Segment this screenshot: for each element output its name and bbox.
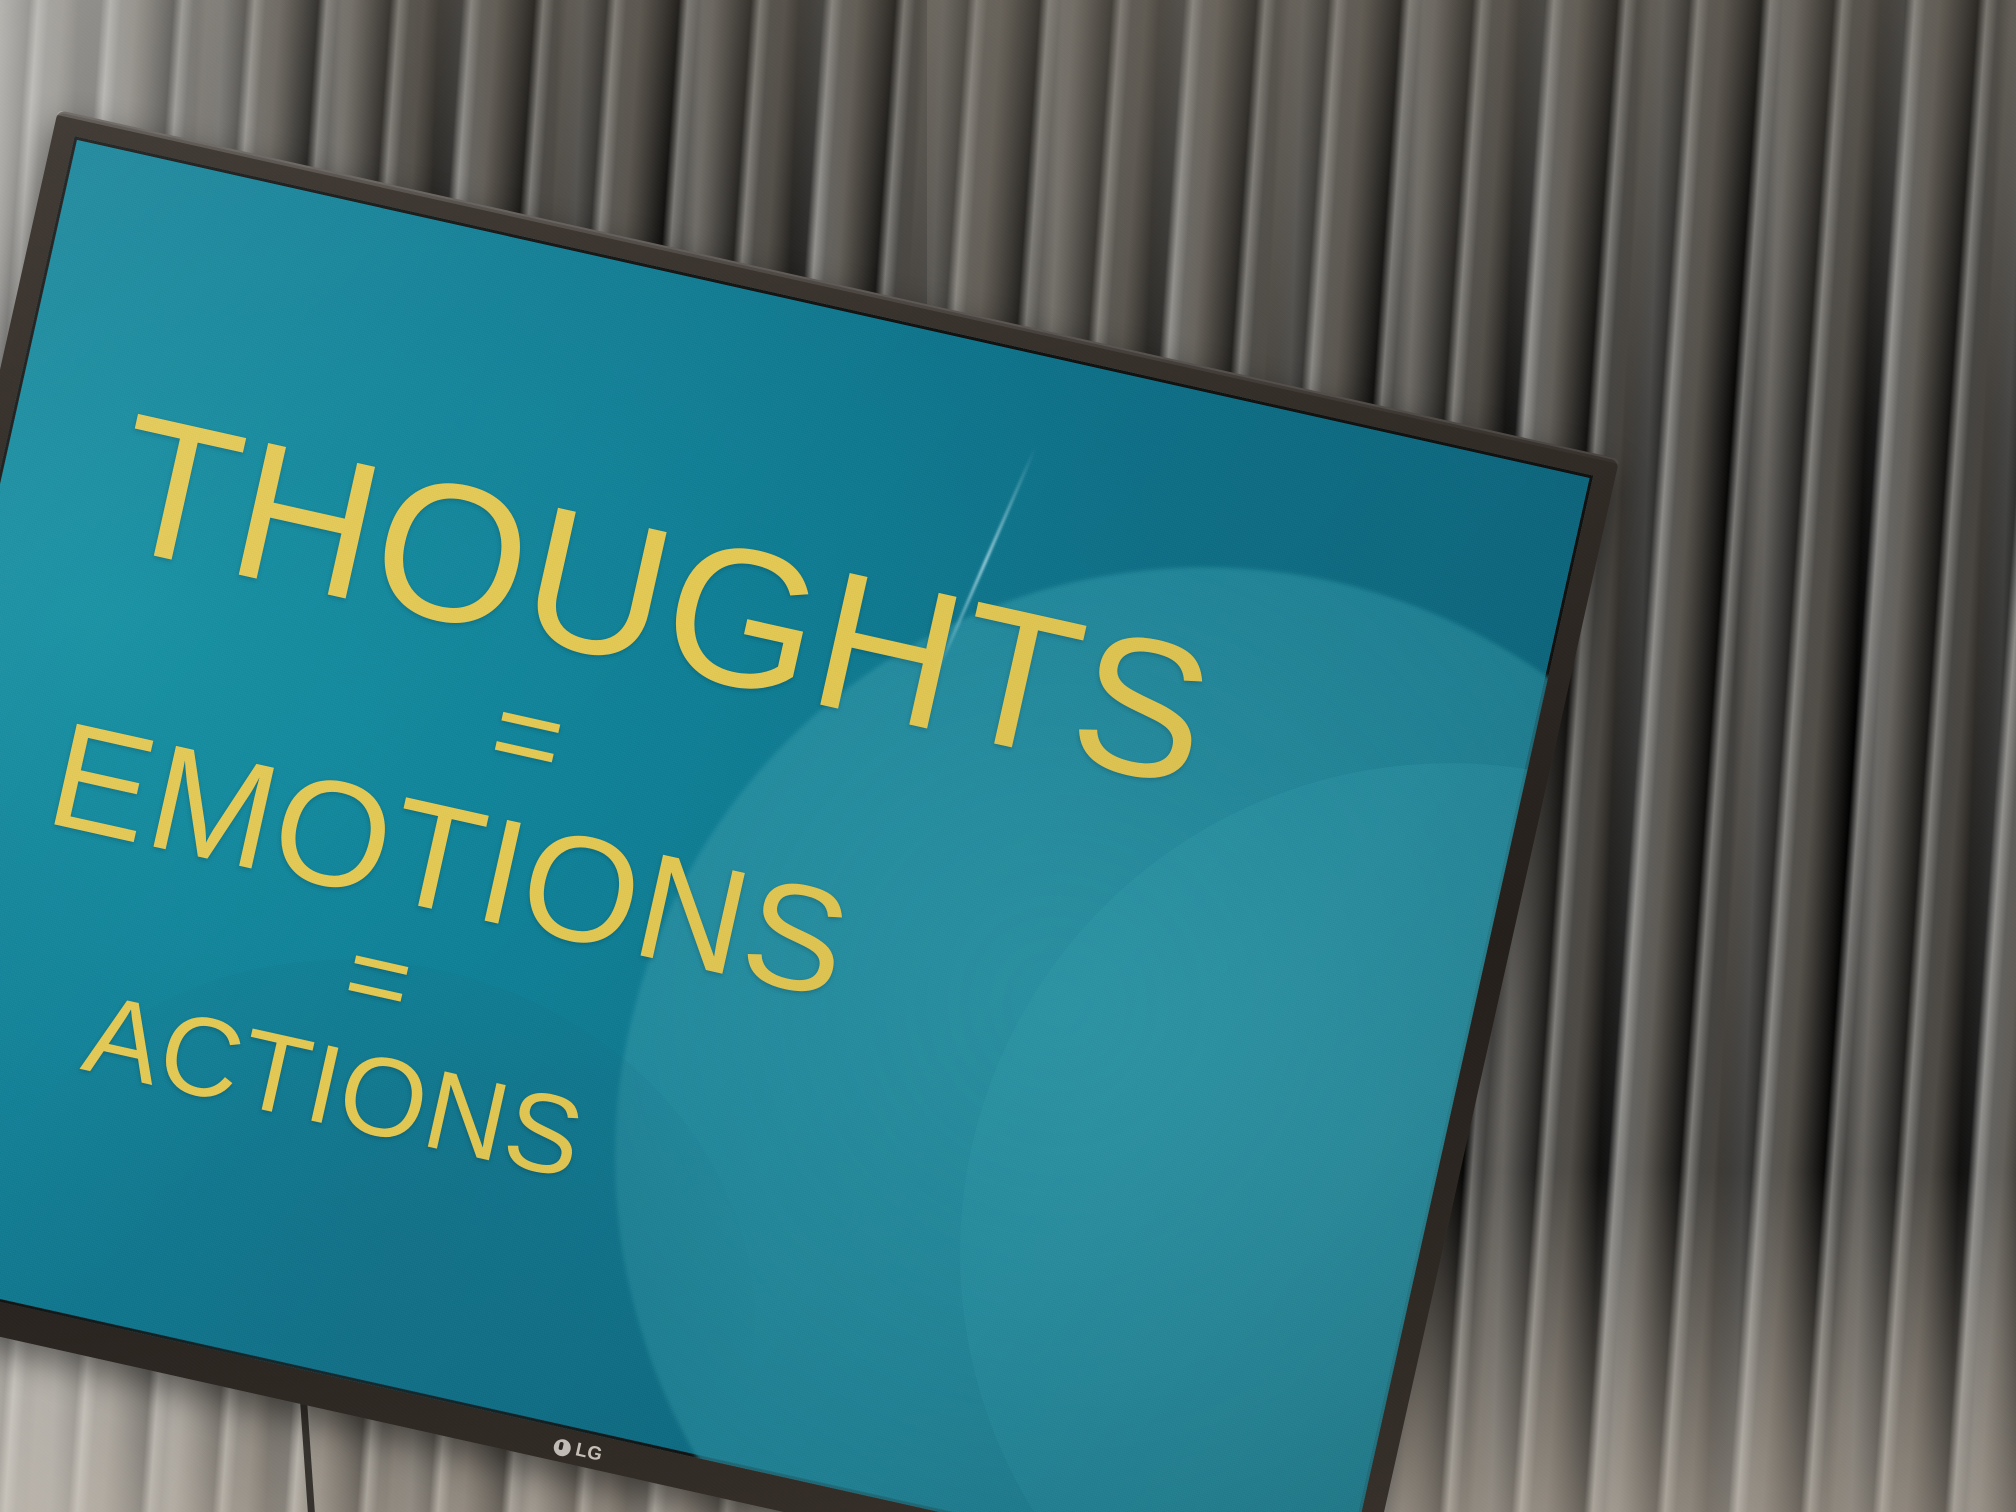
lg-logo-icon [552,1437,572,1457]
lg-logo: LG [552,1435,605,1467]
photo-scene: THOUGHTS = EMOTIONS = ACTIONS LG [0,0,2016,1512]
slide-line-equals-2: = [336,920,423,1036]
slide-line-emotions: EMOTIONS [37,698,862,1022]
slide-line-actions: ACTIONS [75,977,593,1197]
slide-line-equals-1: = [481,672,575,799]
lg-logo-text: LG [573,1439,604,1466]
